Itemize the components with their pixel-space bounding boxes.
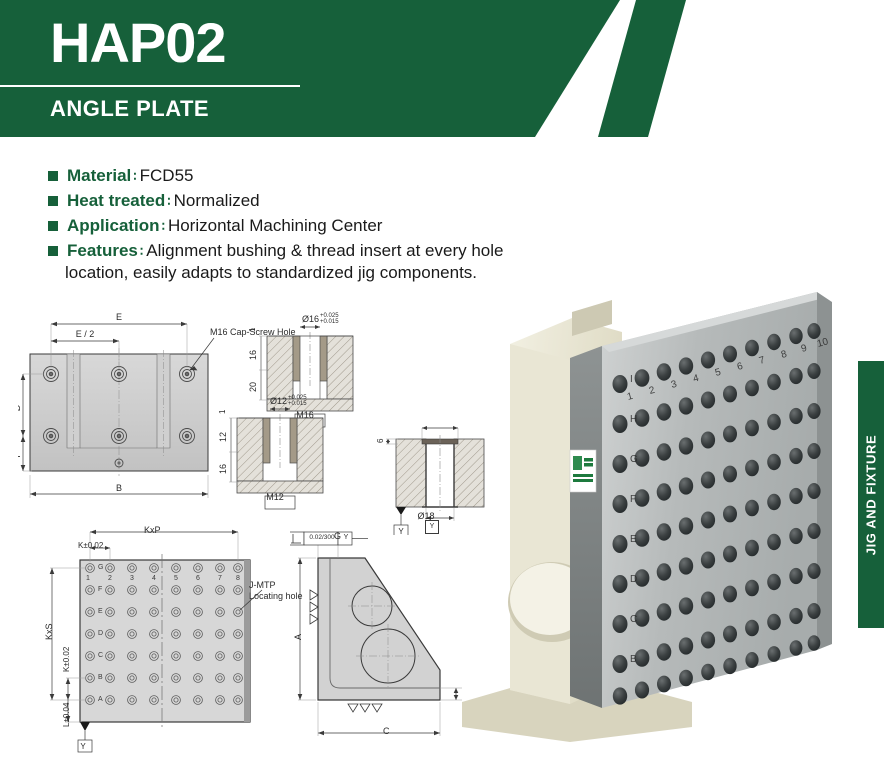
- dim-F: F: [18, 452, 22, 458]
- dim-k-pitch: K±0.02: [78, 541, 103, 550]
- dim-E: E: [116, 312, 122, 322]
- svg-text:G: G: [630, 454, 638, 465]
- spec-label: Material: [67, 166, 131, 185]
- dim-dia16-label: Ø16 +0.025 +0.015: [302, 313, 339, 325]
- dim-kxp: KxP: [144, 525, 161, 535]
- spec-value: FCD55: [140, 166, 194, 185]
- datum-symbol-y-grid: Y: [76, 742, 90, 751]
- grid-col-2: 2: [108, 575, 112, 582]
- svg-text:H: H: [630, 414, 637, 425]
- grid-col-3: 3: [130, 575, 134, 582]
- svg-text:F: F: [630, 494, 636, 505]
- specification-list: Material∶FCD55 Heat treated∶Normalized A…: [48, 165, 608, 286]
- page-title: HAP02: [50, 10, 226, 76]
- page-header: HAP02 ANGLE PLATE: [0, 0, 886, 137]
- grid-row-D: D: [98, 630, 103, 637]
- dim-m16-b: 16: [248, 350, 258, 360]
- dim-m12-a: 1: [218, 410, 227, 414]
- grid-col-8: 8: [236, 575, 240, 582]
- square-bullet-icon: [48, 221, 58, 231]
- spec-label: Features: [67, 241, 138, 260]
- spec-label: Heat treated: [67, 191, 165, 210]
- square-bullet-icon: [48, 246, 58, 256]
- gdt-tolerance-value: 0.02/300: [305, 534, 339, 541]
- grid-col-6: 6: [196, 575, 200, 582]
- spec-label: Application: [67, 216, 160, 235]
- dim-A: A: [293, 634, 303, 640]
- dim-m12-b: 12: [218, 432, 228, 442]
- spec-separator: ∶: [140, 244, 143, 259]
- section-tab-label: JIG AND FIXTURE: [858, 362, 884, 629]
- brand-label: [570, 450, 596, 492]
- spec-item-material: Material∶FCD55: [48, 165, 608, 187]
- spec-separator: ∶: [133, 169, 136, 184]
- spec-value: Normalized: [174, 191, 260, 210]
- dim-kxs: KxS: [44, 623, 54, 640]
- svg-text:I: I: [630, 374, 633, 385]
- drawing-base-plan-view: E E / 2 B D F: [18, 308, 248, 508]
- spec-separator: ∶: [167, 194, 170, 209]
- header-diagonal-stripe: [598, 0, 686, 137]
- svg-text:C: C: [630, 614, 637, 625]
- spec-item-application: Application∶Horizontal Machining Center: [48, 215, 608, 237]
- grid-col-5: 5: [174, 575, 178, 582]
- dim-dia12-label: Ø12 +0.025 +0.015: [270, 395, 307, 407]
- grid-row-B: B: [98, 674, 103, 681]
- label-m12: M12: [260, 492, 290, 502]
- spec-value: Horizontal Machining Center: [168, 216, 383, 235]
- dim-l-edge: L±0.04: [62, 703, 71, 727]
- dim-m16-a: 1: [248, 328, 257, 332]
- square-bullet-icon: [48, 196, 58, 206]
- dim-C: C: [383, 726, 390, 736]
- header-divider-rule: [0, 85, 300, 87]
- gdt-datum-reference: Y: [339, 534, 353, 541]
- dim-bush-depth: 6: [376, 439, 385, 443]
- spec-value: Alignment bushing & thread insert at eve…: [146, 241, 503, 260]
- grid-col-1: 1: [86, 575, 90, 582]
- grid-row-G: G: [98, 564, 103, 571]
- dim-D: D: [18, 404, 22, 411]
- datum-symbol-y-top: Y: [425, 520, 439, 534]
- product-photo-angle-plate: 1 2 3 4 5 6 7 8 9 10 I H G F E D C B: [452, 272, 847, 742]
- grid-row-C: C: [98, 652, 103, 659]
- grid-row-F: F: [98, 586, 102, 593]
- section-tab-jig-and-fixture: JIG AND FIXTURE: [858, 361, 884, 628]
- spec-item-heat-treated: Heat treated∶Normalized: [48, 190, 608, 212]
- grid-row-A: A: [98, 696, 103, 703]
- drawing-hole-pattern: [38, 518, 278, 761]
- spec-separator: ∶: [162, 219, 165, 234]
- dim-E-half: E / 2: [76, 329, 95, 339]
- dim-k-row: K±0.02: [62, 647, 71, 672]
- square-bullet-icon: [48, 171, 58, 181]
- dim-B: B: [116, 483, 122, 493]
- dim-m12-c: 16: [218, 464, 228, 474]
- grid-row-E: E: [98, 608, 103, 615]
- svg-text:D: D: [630, 574, 637, 585]
- svg-text:E: E: [630, 534, 637, 545]
- svg-text:B: B: [630, 654, 637, 665]
- grid-col-4: 4: [152, 575, 156, 582]
- grid-col-7: 7: [218, 575, 222, 582]
- page-subtitle: ANGLE PLATE: [50, 96, 209, 122]
